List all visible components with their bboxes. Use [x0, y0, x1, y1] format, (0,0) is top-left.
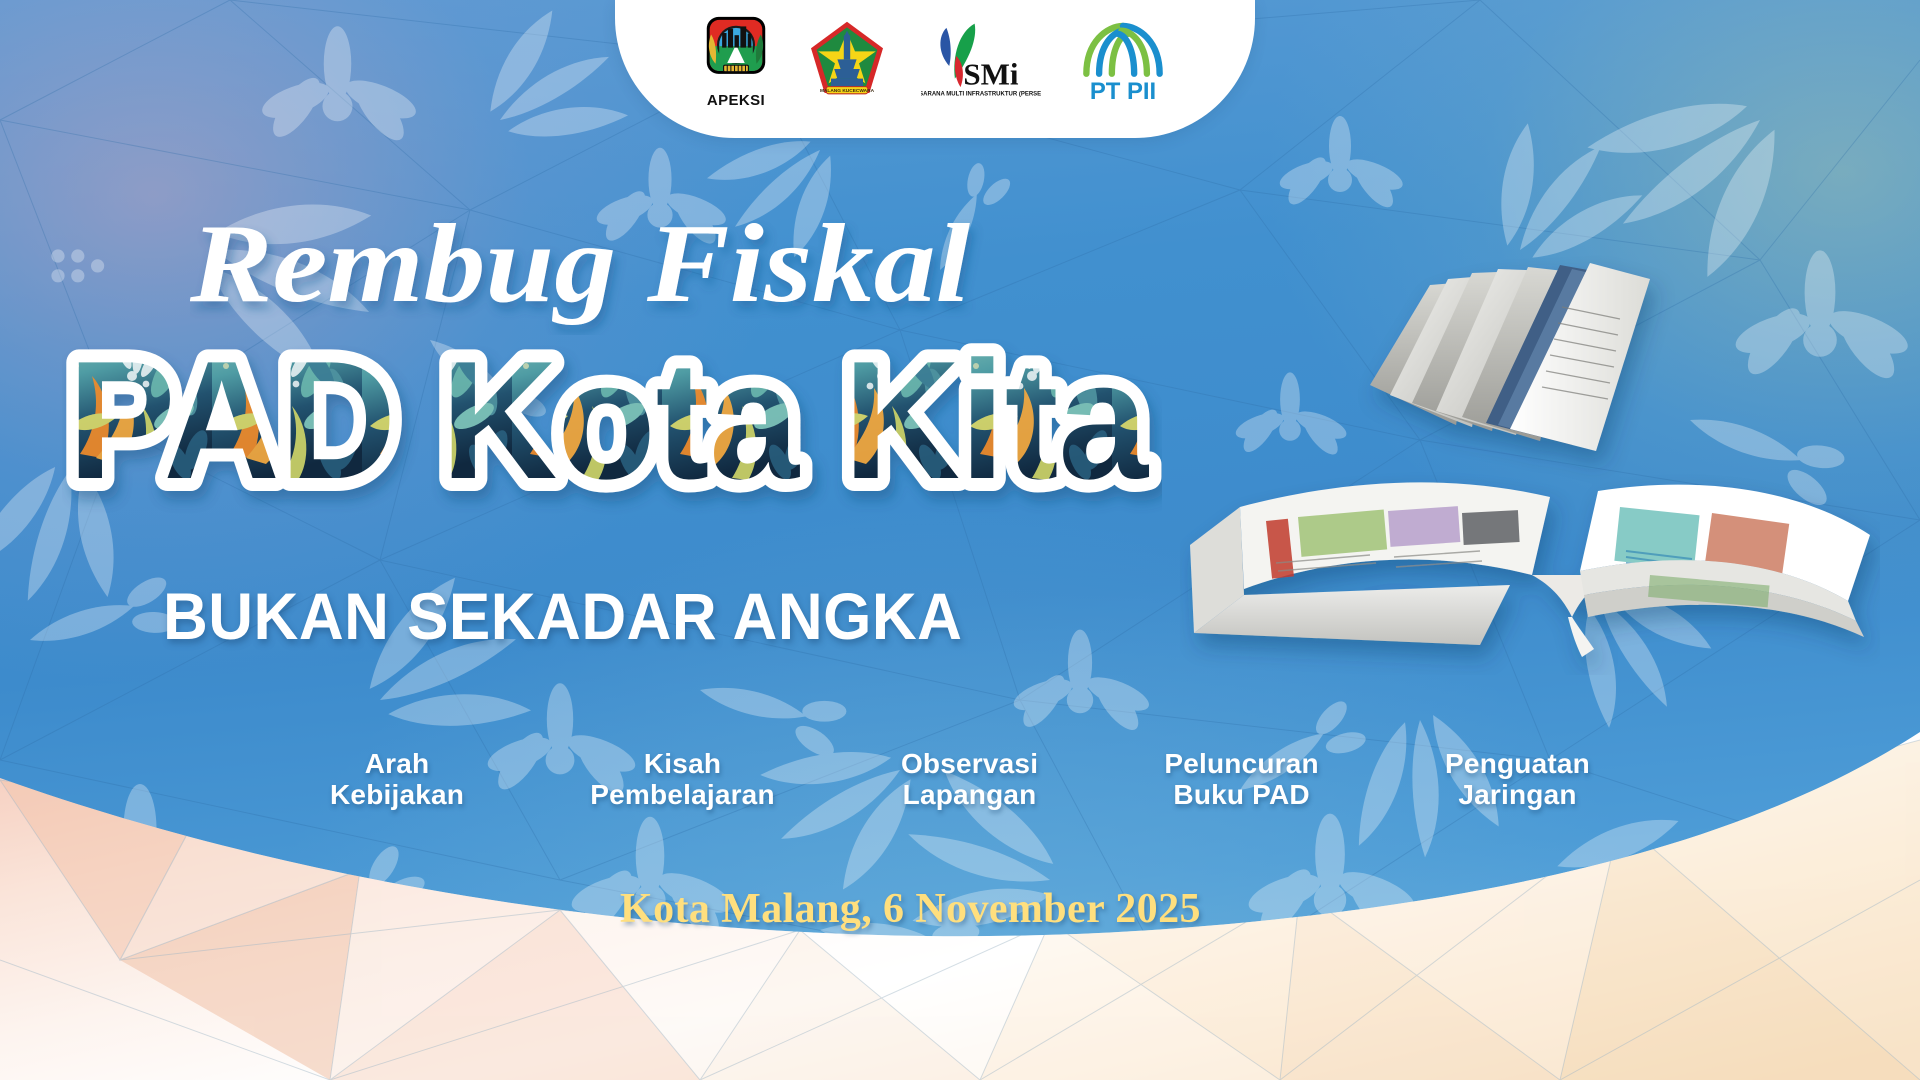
apeksi-logo: APEKSI — [699, 14, 773, 108]
pillar-line-2: Lapangan — [901, 779, 1038, 810]
pt-pii-caption: PT PII — [1090, 78, 1156, 104]
apeksi-emblem-icon — [699, 14, 773, 90]
pillar-arah-kebijakan: Arah Kebijakan — [330, 748, 464, 811]
pillar-line-1: Observasi — [901, 748, 1038, 779]
pillar-line-1: Arah — [330, 748, 464, 779]
pillar-penguatan-jaringan: Penguatan Jaringan — [1445, 748, 1590, 811]
date-location: Kota Malang, 6 November 2025 — [620, 885, 1201, 933]
pillar-line-2: Pembelajaran — [590, 779, 775, 810]
sponsor-logo-panel: APEKSI MALANG KUCECWARA — [615, 0, 1255, 138]
pt-pii-logo: PT PII — [1075, 18, 1171, 104]
script-title: Rembug Fiskal — [190, 205, 1030, 335]
pillar-line-2: Kebijakan — [330, 779, 464, 810]
main-title: PAD Kota Kita PAD Kota Kita — [62, 330, 1162, 515]
pillar-peluncuran-buku-pad: Peluncuran Buku PAD — [1164, 748, 1318, 811]
pillar-line-2: Buku PAD — [1164, 779, 1318, 810]
subtitle: BUKAN SEKADAR ANGKA — [163, 578, 962, 654]
banner-content: Rembug Fiskal — [0, 0, 1920, 1080]
pillar-line-1: Penguatan — [1445, 748, 1590, 779]
pt-pii-emblem-icon: PT PII — [1075, 18, 1171, 104]
kota-malang-logo: MALANG KUCECWARA — [807, 19, 887, 103]
svg-text:MALANG KUCECWARA: MALANG KUCECWARA — [820, 88, 875, 94]
svg-text:SMi: SMi — [963, 56, 1019, 91]
pillar-line-2: Jaringan — [1445, 779, 1590, 810]
pillar-kisah-pembelajaran: Kisah Pembelajaran — [590, 748, 775, 811]
event-banner: APEKSI MALANG KUCECWARA — [0, 0, 1920, 1080]
script-title-text: Rembug Fiskal — [190, 205, 970, 326]
smi-emblem-icon: SMi PT SARANA MULTI INFRASTRUKTUR (PERSE… — [921, 21, 1041, 101]
kota-malang-emblem-icon: MALANG KUCECWARA — [807, 19, 887, 103]
smi-logo: SMi PT SARANA MULTI INFRASTRUKTUR (PERSE… — [921, 21, 1041, 101]
smi-tagline: PT SARANA MULTI INFRASTRUKTUR (PERSERO) — [921, 92, 1041, 98]
apeksi-logo-caption: APEKSI — [707, 93, 765, 108]
pillar-list: Arah Kebijakan Kisah Pembelajaran Observ… — [330, 748, 1590, 811]
main-title-fill: PAD Kota Kita — [68, 330, 1149, 514]
pillar-line-1: Peluncuran — [1164, 748, 1318, 779]
pillar-line-1: Kisah — [590, 748, 775, 779]
pillar-observasi-lapangan: Observasi Lapangan — [901, 748, 1038, 811]
